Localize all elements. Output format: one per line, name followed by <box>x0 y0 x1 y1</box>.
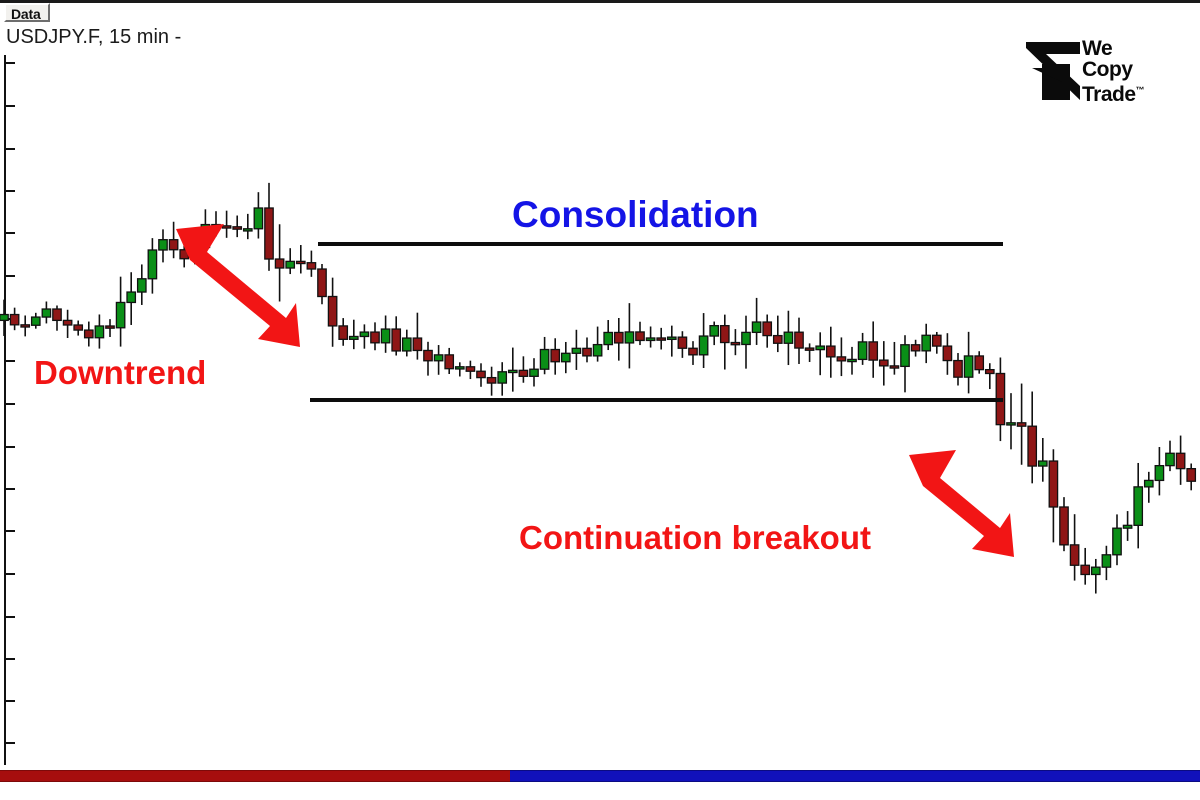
candle <box>943 333 951 375</box>
candle <box>519 356 527 382</box>
candle <box>21 315 29 336</box>
candle <box>244 214 252 239</box>
candle <box>148 238 156 293</box>
candle <box>487 367 495 396</box>
candle <box>954 353 962 385</box>
candle <box>880 341 888 385</box>
candle <box>169 222 177 258</box>
candle <box>339 318 347 346</box>
candle <box>530 358 538 386</box>
candle <box>445 348 453 374</box>
downtrend-label: Downtrend <box>34 356 206 389</box>
candle <box>1028 392 1036 484</box>
candle <box>53 306 61 331</box>
candle <box>328 278 336 347</box>
candle <box>742 316 750 369</box>
candle <box>890 342 898 375</box>
candle <box>1187 464 1195 491</box>
logo-line-1: We <box>1082 38 1144 59</box>
candle <box>456 362 464 376</box>
candle <box>233 216 241 238</box>
candle <box>413 313 421 360</box>
candle <box>1155 447 1163 495</box>
candle <box>318 264 326 304</box>
candle <box>625 303 633 368</box>
candle <box>424 342 432 376</box>
candle <box>477 363 485 386</box>
candle <box>636 322 644 345</box>
candle <box>106 319 114 337</box>
candle <box>201 209 209 258</box>
candle <box>848 347 856 375</box>
candle <box>85 322 93 347</box>
candle <box>32 313 40 329</box>
candle <box>986 363 994 389</box>
candle <box>509 348 517 392</box>
candle <box>434 345 442 375</box>
candle <box>784 311 792 365</box>
candle <box>583 337 591 362</box>
candle <box>10 308 18 331</box>
candle <box>1017 384 1025 465</box>
candle <box>307 251 315 277</box>
logo-line-3: Trade™ <box>1082 80 1144 105</box>
candle <box>1049 449 1057 542</box>
candle <box>254 192 262 238</box>
trading-chart-screenshot: Data USDJPY.F, 15 min - Consolidation Do… <box>0 0 1200 800</box>
candle <box>657 328 665 350</box>
candle <box>392 316 400 355</box>
candle <box>1176 436 1184 485</box>
candle <box>371 322 379 350</box>
candle <box>975 351 983 373</box>
candle <box>827 327 835 378</box>
candle <box>1070 514 1078 580</box>
candle <box>138 264 146 305</box>
candle <box>350 320 358 349</box>
status-bar-blue-segment <box>510 770 1200 782</box>
candle <box>964 332 972 394</box>
candle <box>668 326 676 357</box>
candle <box>551 338 559 374</box>
candle <box>1060 497 1068 551</box>
candle <box>180 236 188 267</box>
candle <box>1007 393 1015 449</box>
candle <box>191 238 199 265</box>
consolidation-label: Consolidation <box>512 196 759 233</box>
candle <box>731 329 739 355</box>
candle <box>572 330 580 370</box>
candle <box>63 310 71 338</box>
candle <box>922 324 930 363</box>
candle <box>95 314 103 348</box>
candle <box>466 361 474 379</box>
candle <box>1134 463 1142 548</box>
candle <box>42 301 50 323</box>
candle <box>816 332 824 375</box>
candle <box>678 331 686 358</box>
candle <box>1039 438 1047 482</box>
candle <box>127 272 135 325</box>
continuation-breakout-label: Continuation breakout <box>519 521 871 554</box>
candle <box>901 335 909 392</box>
candle <box>297 245 305 273</box>
logo-wordmark: We Copy Trade™ <box>1082 38 1144 105</box>
candle <box>604 320 612 350</box>
candle <box>1092 559 1100 594</box>
candle <box>403 330 411 357</box>
candle <box>774 316 782 352</box>
candle <box>911 340 919 357</box>
candle <box>360 324 368 348</box>
candle <box>381 316 389 353</box>
candle <box>752 298 760 345</box>
candle <box>498 362 506 396</box>
candle <box>540 337 548 374</box>
candle <box>837 337 845 376</box>
candle <box>805 343 813 362</box>
logo-line-2: Copy <box>1082 59 1144 80</box>
candle <box>1081 548 1089 585</box>
candle <box>222 211 230 238</box>
candle <box>116 277 124 347</box>
candle <box>1113 514 1121 565</box>
candle <box>710 322 718 346</box>
candle <box>286 248 294 274</box>
candle <box>74 321 82 336</box>
candle <box>858 333 866 365</box>
status-bar <box>0 770 1200 782</box>
candle <box>615 318 623 361</box>
candle <box>1102 546 1110 580</box>
support-line <box>310 398 1003 402</box>
resistance-line <box>318 242 1003 246</box>
candle <box>1145 472 1153 503</box>
candle <box>721 315 729 370</box>
candle <box>869 321 877 377</box>
candle <box>275 224 283 301</box>
candle <box>593 327 601 362</box>
candle <box>933 332 941 354</box>
status-bar-red-segment <box>0 770 510 782</box>
candle <box>159 229 167 262</box>
candle <box>1166 441 1174 471</box>
candle <box>689 341 697 365</box>
candle <box>763 315 771 348</box>
candle <box>0 300 8 336</box>
candle <box>562 342 570 373</box>
candle <box>212 211 220 236</box>
candle <box>699 313 707 368</box>
candle <box>265 183 273 271</box>
candle <box>646 326 654 347</box>
candle <box>1123 511 1131 541</box>
candle <box>795 318 803 364</box>
